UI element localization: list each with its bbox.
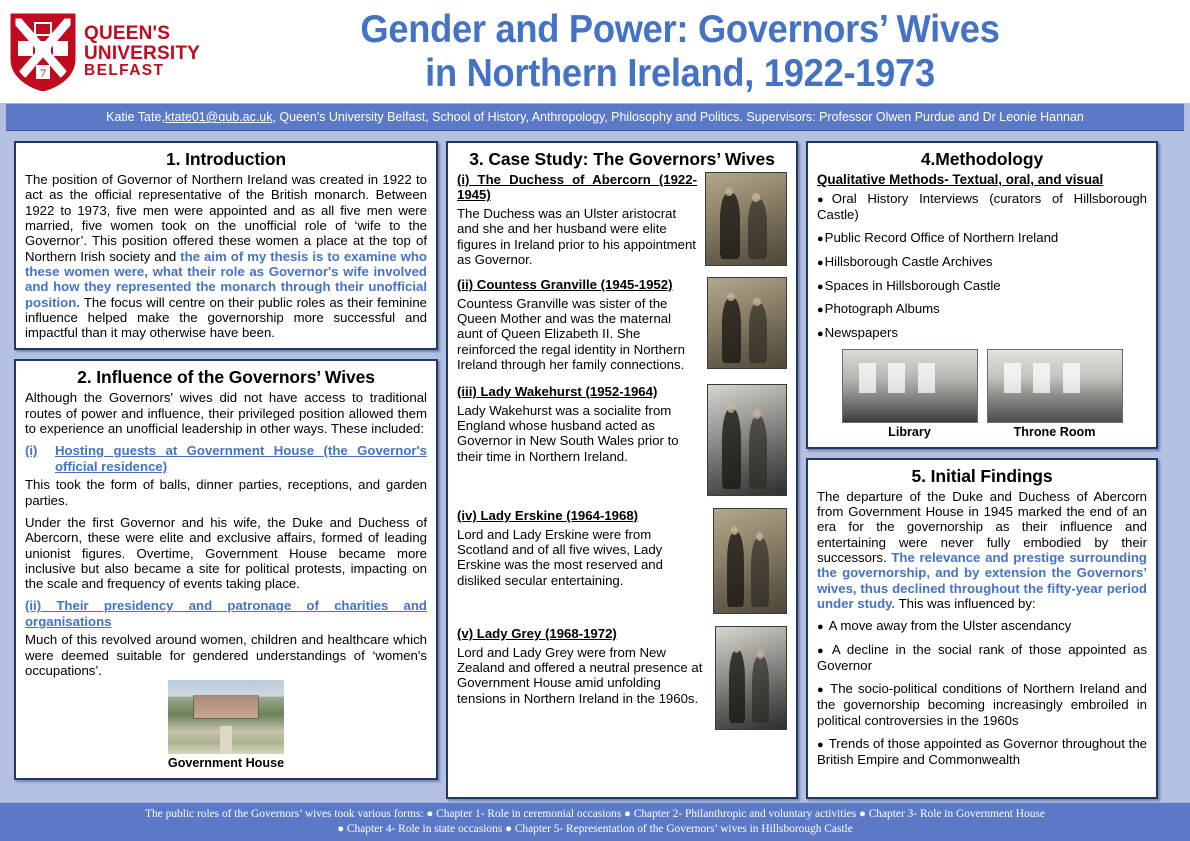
column-middle: 3. Case Study: The Governors’ Wives (i) … (446, 141, 798, 799)
methodology-list: Oral History Interviews (curators of Hil… (817, 191, 1147, 341)
section-initial-findings: 5. Initial Findings The departure of the… (806, 458, 1158, 799)
case-entry-2-number: (ii) (457, 277, 473, 292)
findings-list: A move away from the Ulster ascendancy A… (817, 618, 1147, 767)
influence-heading: 2. Influence of the Governors’ Wives (25, 367, 427, 388)
methodology-subheading: Qualitative Methods- Textual, oral, and … (817, 172, 1147, 187)
case-study-entry: (i) The Duchess of Abercorn (1922-1945) … (457, 172, 787, 267)
lady-erskine-photo (713, 508, 787, 614)
influence-paragraph-ii: Much of this revolved around women, chil… (25, 632, 427, 678)
influence-subheading-ii: (ii) Their presidency and patronage of c… (25, 598, 427, 629)
methodology-item: Newspapers (817, 325, 1147, 341)
influence-intro-paragraph: Although the Governors' wives did not ha… (25, 390, 427, 436)
findings-item: A decline in the social rank of those ap… (817, 642, 1147, 673)
footer-line-1: The public roles of the Governors’ wives… (0, 807, 1190, 822)
poster-body: 1. Introduction The position of Governor… (0, 131, 1190, 799)
case-entry-1-number: (i) (457, 172, 469, 187)
case-study-entry: (ii) Countess Granville (1945-1952) Coun… (457, 277, 787, 372)
findings-body: The departure of the Duke and Duchess of… (817, 489, 1147, 612)
case-entry-5-title-row: (v) Lady Grey (1968-1972) (457, 626, 707, 641)
methodology-item: Public Record Office of Northern Ireland (817, 230, 1147, 246)
introduction-body: The position of Governor of Northern Ire… (25, 172, 427, 340)
title-line-2: in Northern Ireland, 1922-1973 (243, 52, 1117, 96)
influence-paragraph-i-a: This took the form of balls, dinner part… (25, 477, 427, 508)
throne-room-figure: Throne Room (987, 349, 1123, 439)
byline-suffix: , Queen's University Belfast, School of … (272, 110, 1083, 124)
section-methodology: 4.Methodology Qualitative Methods- Textu… (806, 141, 1158, 449)
government-house-caption: Government House (25, 756, 427, 770)
case-entry-2-body: Countess Granville was sister of the Que… (457, 296, 699, 373)
case-entry-2-title-row: (ii) Countess Granville (1945-1952) (457, 277, 699, 292)
case-study-entry: (iii) Lady Wakehurst (1952-1964) Lady Wa… (457, 384, 787, 496)
methodology-item: Photograph Albums (817, 301, 1147, 317)
case-entry-1-body: The Duchess was an Ulster aristocrat and… (457, 206, 697, 267)
influence-subheading-i: (i) Hosting guests at Government House (… (25, 443, 427, 474)
library-image (842, 349, 978, 423)
methodology-item: Hillsborough Castle Archives (817, 254, 1147, 270)
logo-wordmark: QUEEN'S UNIVERSITY BELFAST (84, 24, 200, 79)
column-left: 1. Introduction The position of Governor… (14, 141, 438, 799)
influence-subheading-i-number: (i) (25, 443, 55, 474)
case-study-heading: 3. Case Study: The Governors’ Wives (457, 149, 787, 170)
university-crest-icon: 7 (10, 13, 76, 91)
library-figure: Library (842, 349, 978, 439)
methodology-item: Oral History Interviews (curators of Hil… (817, 191, 1147, 222)
byline-prefix: Katie Tate, (106, 110, 165, 124)
logo-container: 7 QUEEN'S UNIVERSITY BELFAST (0, 0, 210, 103)
library-caption: Library (842, 425, 978, 439)
poster-footer: The public roles of the Governors’ wives… (0, 802, 1190, 841)
influence-subheading-ii-text: Their presidency and patronage of charit… (25, 598, 427, 628)
section-introduction: 1. Introduction The position of Governor… (14, 141, 438, 350)
lady-grey-photo (715, 626, 787, 730)
methodology-item: Spaces in Hillsborough Castle (817, 278, 1147, 294)
findings-item: Trends of those appointed as Governor th… (817, 736, 1147, 767)
logo-line-queens: QUEEN'S (84, 24, 200, 43)
throne-room-caption: Throne Room (987, 425, 1123, 439)
methodology-heading: 4.Methodology (817, 149, 1147, 170)
methodology-figures: Library Throne Room (817, 349, 1147, 439)
case-entry-1-title: The Duchess of Abercorn (1922-1945) (457, 172, 697, 202)
title-line-1: Gender and Power: Governors’ Wives (243, 8, 1117, 52)
case-entry-2-title: Countess Granville (1945-1952) (477, 277, 673, 292)
queens-university-belfast-logo: 7 QUEEN'S UNIVERSITY BELFAST (10, 13, 200, 91)
case-entry-3-title-row: (iii) Lady Wakehurst (1952-1964) (457, 384, 699, 399)
findings-heading: 5. Initial Findings (817, 466, 1147, 487)
logo-line-belfast: BELFAST (84, 63, 200, 79)
case-entry-5-body: Lord and Lady Grey were from New Zealand… (457, 645, 707, 706)
case-entry-3-title: Lady Wakehurst (1952-1964) (480, 384, 657, 399)
throne-room-image (987, 349, 1123, 423)
poster-header: 7 QUEEN'S UNIVERSITY BELFAST Gender and … (0, 0, 1190, 103)
footer-line-2: ● Chapter 4- Role in state occasions ● C… (0, 822, 1190, 837)
case-entry-4-body: Lord and Lady Erskine were from Scotland… (457, 527, 705, 588)
case-study-entry: (iv) Lady Erskine (1964-1968) Lord and L… (457, 508, 787, 614)
case-entry-3-body: Lady Wakehurst was a socialite from Engl… (457, 403, 699, 464)
findings-item: A move away from the Ulster ascendancy (817, 618, 1147, 634)
government-house-figure: Government House (25, 680, 427, 770)
findings-item: The socio-political conditions of Northe… (817, 681, 1147, 728)
duchess-of-abercorn-photo (705, 172, 787, 266)
section-influence: 2. Influence of the Governors’ Wives Alt… (14, 359, 438, 780)
influence-subheading-i-text: Hosting guests at Government House (the … (55, 443, 427, 474)
government-house-image (168, 680, 284, 754)
section-case-study: 3. Case Study: The Governors’ Wives (i) … (446, 141, 798, 799)
findings-text-b: This was influenced by: (895, 596, 1036, 611)
case-entry-4-title-row: (iv) Lady Erskine (1964-1968) (457, 508, 705, 523)
influence-paragraph-i-b: Under the first Governor and his wife, t… (25, 515, 427, 592)
svg-text:7: 7 (40, 66, 46, 80)
case-entry-4-title: Lady Erskine (1964-1968) (480, 508, 638, 523)
introduction-text-b: The focus will centre on their public ro… (25, 295, 427, 341)
case-entry-3-number: (iii) (457, 384, 477, 399)
page-title: Gender and Power: Governors’ Wives in No… (210, 8, 1190, 95)
case-study-entry: (v) Lady Grey (1968-1972) Lord and Lady … (457, 626, 787, 730)
column-right: 4.Methodology Qualitative Methods- Textu… (806, 141, 1158, 799)
case-entry-5-title: Lady Grey (1968-1972) (477, 626, 617, 641)
introduction-heading: 1. Introduction (25, 149, 427, 170)
case-entry-5-number: (v) (457, 626, 473, 641)
lady-wakehurst-photo (707, 384, 787, 496)
author-email-link[interactable]: ktate01@qub.ac.uk (165, 110, 273, 124)
logo-line-university: UNIVERSITY (84, 44, 200, 63)
case-entry-1-title-row: (i) The Duchess of Abercorn (1922-1945) (457, 172, 697, 203)
author-byline: Katie Tate, ktate01@qub.ac.uk, Queen's U… (6, 103, 1184, 131)
influence-subheading-ii-number: (ii) (25, 598, 41, 613)
case-entry-4-number: (iv) (457, 508, 477, 523)
countess-granville-photo (707, 277, 787, 369)
